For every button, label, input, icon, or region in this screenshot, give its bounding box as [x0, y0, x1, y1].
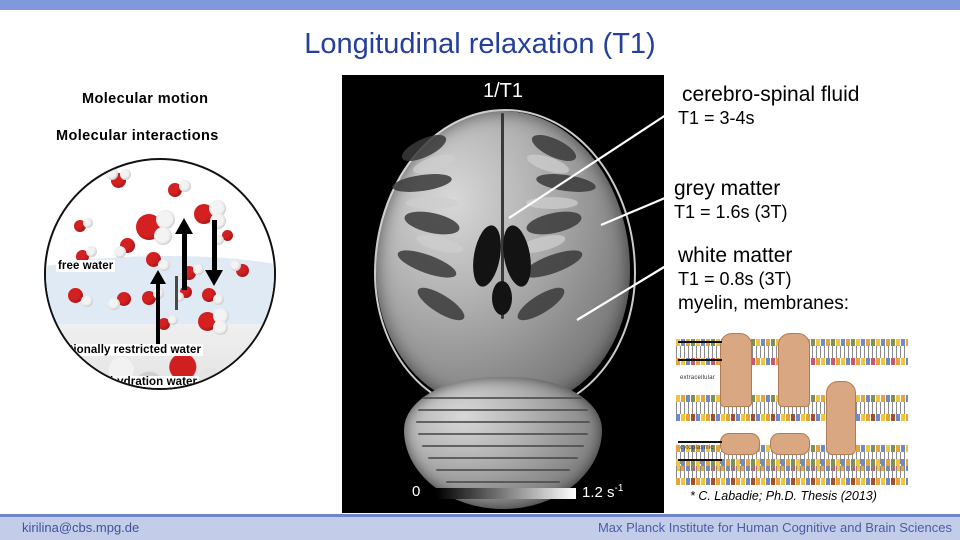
- annotation-extra: myelin, membranes:: [678, 291, 849, 316]
- hydration-arrow-head: [150, 270, 166, 284]
- membrane-label-cytoplasmic: cytoplasmic: [680, 445, 714, 451]
- exchange-arrow-down-head: [205, 270, 223, 286]
- lipid-bilayer: [676, 459, 908, 485]
- hydration-arrow-shaft: [156, 282, 160, 352]
- water-molecule: [158, 315, 180, 333]
- label-free-water: free water: [56, 260, 115, 272]
- water-molecule: [142, 288, 166, 308]
- annotation-title: cerebro-spinal fluid: [682, 82, 859, 107]
- annotation-value: T1 = 0.8s (3T): [678, 268, 849, 291]
- water-molecule-circle-diagram: free water motionally restricted water h…: [44, 158, 276, 390]
- slide-root: Longitudinal relaxation (T1) Molecular m…: [0, 0, 960, 540]
- annotation-value: T1 = 1.6s (3T): [674, 201, 788, 224]
- lipid-head-row: [676, 414, 908, 421]
- hydration-arrow-small-shaft: [175, 276, 178, 310]
- label-hydration-water: hydration water: [108, 376, 199, 388]
- annotation-cerebro-spinal-fluid: cerebro-spinal fluid T1 = 3-4s: [678, 82, 859, 130]
- water-molecule: [168, 180, 192, 200]
- citation-text: * C. Labadie; Ph.D. Thesis (2013): [690, 489, 877, 503]
- membrane-tick: [678, 441, 722, 443]
- footer-email[interactable]: kirilina@cbs.mpg.de: [22, 520, 139, 535]
- membrane-tick: [678, 459, 722, 461]
- water-molecule: [114, 238, 140, 260]
- water-molecule: [106, 168, 132, 190]
- annotation-title: white matter: [678, 243, 849, 268]
- top-accent-banner: [0, 0, 960, 10]
- water-molecule: [68, 288, 96, 310]
- membrane-label-extracellular: extracellular: [680, 375, 715, 381]
- third-ventricle: [492, 281, 512, 315]
- membrane-tick: [678, 341, 722, 343]
- page-title: Longitudinal relaxation (T1): [0, 26, 960, 62]
- transmembrane-protein: [778, 333, 810, 407]
- brain-image-panel: 1/T1: [342, 75, 664, 513]
- annotation-title: grey matter: [674, 176, 788, 201]
- transmembrane-protein-plp: [826, 381, 856, 455]
- lipid-head-row: [676, 478, 908, 485]
- colorbar-min-label: 0: [412, 483, 420, 500]
- colorbar-max-exponent: -1: [615, 483, 624, 494]
- water-molecule: [214, 230, 234, 248]
- label-motionally-restricted-water: motionally restricted water: [50, 344, 203, 356]
- footer-institute-name: Max Planck Institute for Human Cognitive…: [598, 520, 952, 535]
- myelin-basic-protein-mbp: [720, 433, 760, 455]
- exchange-arrow-down-shaft: [212, 220, 217, 272]
- transmembrane-protein: [720, 333, 752, 407]
- colorbar-max-label: 1.2 s-1: [582, 483, 623, 501]
- water-molecule: [74, 218, 94, 236]
- annotation-white-matter: white matter T1 = 0.8s (3T) myelin, memb…: [678, 243, 849, 316]
- exchange-arrow-up-head: [175, 218, 193, 234]
- colorbar-max-value: 1.2 s: [582, 484, 615, 501]
- exchange-arrow-up-shaft: [182, 232, 187, 290]
- colorbar-gradient: [436, 488, 576, 499]
- annotation-grey-matter: grey matter T1 = 1.6s (3T): [674, 176, 788, 224]
- myelin-basic-protein-mbp: [770, 433, 810, 455]
- water-molecule: [230, 260, 252, 280]
- water-molecule: [108, 292, 134, 312]
- brain-image-caption: 1/T1: [342, 80, 664, 103]
- annotation-value: T1 = 3-4s: [678, 107, 859, 130]
- colorbar: 0 1.2 s-1: [342, 482, 664, 504]
- brain-mri-image: [370, 105, 636, 513]
- water-molecule: [136, 210, 178, 246]
- heading-molecular-interactions: Molecular interactions: [56, 128, 219, 144]
- membrane-tick: [678, 359, 722, 361]
- water-molecule: [198, 308, 232, 336]
- water-molecule: [202, 288, 226, 308]
- heading-molecular-motion: Molecular motion: [82, 91, 208, 107]
- myelin-membrane-diagram: extracellular cytoplasmic: [676, 333, 908, 488]
